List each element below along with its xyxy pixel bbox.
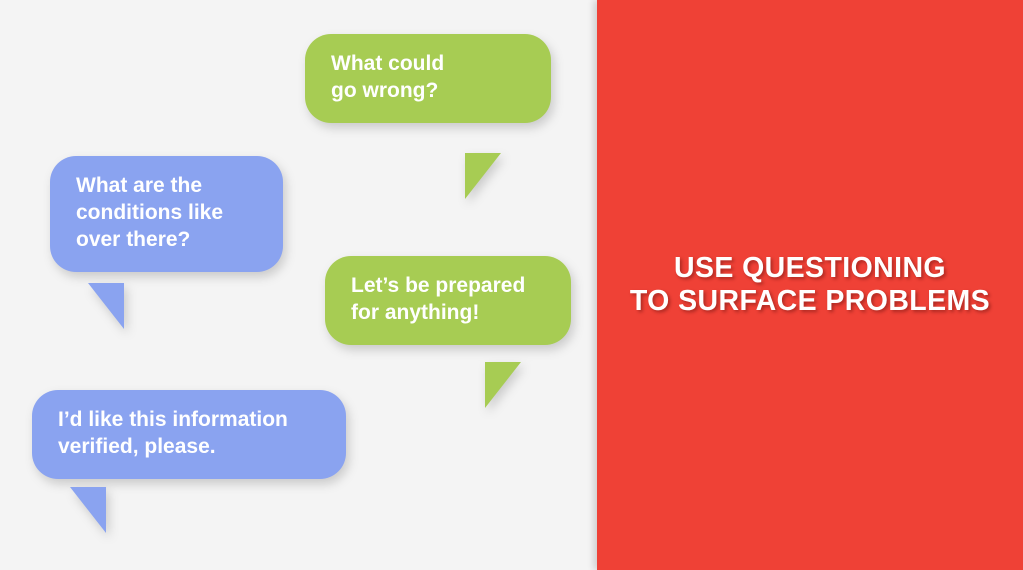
speech-bubble-line: conditions like — [76, 200, 257, 227]
headline-panel: USE QUESTIONING TO SURFACE PROBLEMS — [597, 0, 1023, 570]
page-title-line-1: USE QUESTIONING — [630, 252, 990, 285]
speech-bubble-tail-icon — [88, 283, 124, 329]
speech-bubble-tail-icon — [465, 153, 501, 199]
speech-bubble-lets-be-prepared: Let’s be prepared for anything! — [325, 256, 571, 345]
speech-bubble-line: What could — [331, 51, 525, 78]
page-title-line-2: TO SURFACE PROBLEMS — [630, 285, 990, 318]
speech-bubble-id-like-this-information-verified: I’d like this information verified, plea… — [32, 390, 346, 479]
speech-bubble-body: What are the conditions like over there? — [50, 156, 283, 272]
speech-bubble-body: I’d like this information verified, plea… — [32, 390, 346, 479]
speech-bubble-panel: What could go wrong? What are the condit… — [0, 0, 597, 570]
speech-bubble-line: go wrong? — [331, 78, 525, 105]
speech-bubble-line: What are the — [76, 173, 257, 200]
speech-bubble-tail-icon — [485, 362, 521, 408]
speech-bubble-line: Let’s be prepared — [351, 273, 545, 300]
speech-bubble-line: for anything! — [351, 300, 545, 327]
speech-bubble-what-could-go-wrong: What could go wrong? — [305, 34, 551, 123]
page-title: USE QUESTIONING TO SURFACE PROBLEMS — [622, 252, 998, 319]
speech-bubble-tail-icon — [70, 487, 106, 533]
speech-bubble-line: I’d like this information — [58, 407, 320, 434]
speech-bubble-line: verified, please. — [58, 434, 320, 461]
speech-bubble-body: Let’s be prepared for anything! — [325, 256, 571, 345]
speech-bubble-what-are-the-conditions: What are the conditions like over there? — [50, 156, 283, 272]
speech-bubble-line: over there? — [76, 227, 257, 254]
speech-bubble-body: What could go wrong? — [305, 34, 551, 123]
slide-canvas: What could go wrong? What are the condit… — [0, 0, 1023, 570]
